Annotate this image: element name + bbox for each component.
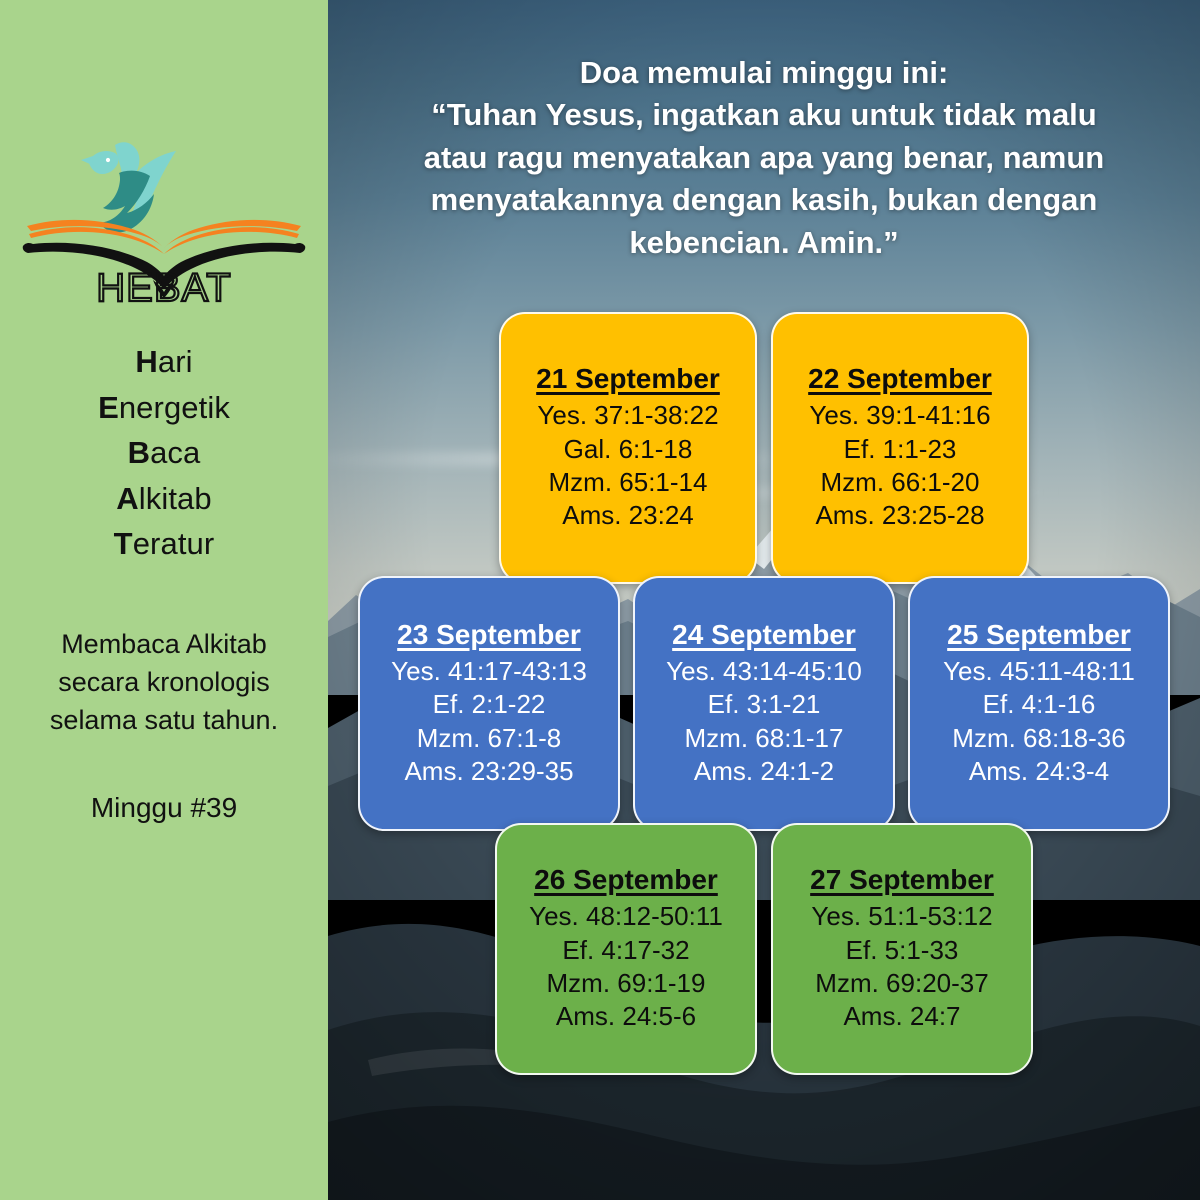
acronym-line-teratur: Teratur <box>98 521 230 567</box>
card-reading: Ams. 24:3-4 <box>969 755 1109 788</box>
card-reading: Ef. 2:1-22 <box>433 688 546 721</box>
main-panel: Doa memulai minggu ini: “Tuhan Yesus, in… <box>328 0 1200 1200</box>
card-reading: Ef. 4:1-16 <box>983 688 1096 721</box>
card-reading: Ams. 23:24 <box>562 499 694 532</box>
acronym-line-hari: Hari <box>98 339 230 385</box>
card-reading: Mzm. 68:18-36 <box>952 722 1125 755</box>
card-date: 26 September <box>534 864 718 896</box>
acronym-cap: T <box>114 526 133 561</box>
reading-plan-grid: 21 September Yes. 37:1-38:22 Gal. 6:1-18… <box>328 312 1200 1075</box>
card-date: 25 September <box>947 619 1131 651</box>
card-reading: Ef. 5:1-33 <box>846 934 959 967</box>
acronym-line-baca: Baca <box>98 430 230 476</box>
acronym-cap: A <box>116 481 139 516</box>
card-reading: Yes. 41:17-43:13 <box>391 655 587 688</box>
card-reading: Yes. 39:1-41:16 <box>809 399 990 432</box>
reading-card[interactable]: 26 September Yes. 48:12-50:11 Ef. 4:17-3… <box>495 823 757 1075</box>
acronym-rest: lkitab <box>139 481 212 516</box>
card-reading: Ams. 24:5-6 <box>556 1000 696 1033</box>
hebat-logo: HEBAT <box>19 118 309 303</box>
card-row-top: 21 September Yes. 37:1-38:22 Gal. 6:1-18… <box>499 312 1029 584</box>
card-date: 24 September <box>672 619 856 651</box>
card-row-bottom: 26 September Yes. 48:12-50:11 Ef. 4:17-3… <box>495 823 1033 1075</box>
card-reading: Mzm. 66:1-20 <box>821 466 980 499</box>
card-date: 27 September <box>810 864 994 896</box>
card-reading: Mzm. 69:1-19 <box>547 967 706 1000</box>
reading-card[interactable]: 22 September Yes. 39:1-41:16 Ef. 1:1-23 … <box>771 312 1029 584</box>
acronym-cap: H <box>135 344 158 379</box>
acronym-cap: B <box>128 435 151 470</box>
card-reading: Ef. 1:1-23 <box>844 433 957 466</box>
card-reading: Mzm. 67:1-8 <box>417 722 562 755</box>
week-number: Minggu #39 <box>91 792 237 824</box>
card-reading: Mzm. 65:1-14 <box>549 466 708 499</box>
card-reading: Ams. 24:1-2 <box>694 755 834 788</box>
card-reading: Ams. 24:7 <box>843 1000 960 1033</box>
prayer-line: menyatakannya dengan kasih, bukan dengan <box>350 179 1178 221</box>
acronym-line-energetik: Energetik <box>98 385 230 431</box>
acronym-cap: E <box>98 390 119 425</box>
acronym-rest: ari <box>158 344 193 379</box>
card-reading: Gal. 6:1-18 <box>564 433 693 466</box>
acronym-block: Hari Energetik Baca Alkitab Teratur <box>98 339 230 567</box>
acronym-rest: aca <box>150 435 200 470</box>
acronym-line-alkitab: Alkitab <box>98 476 230 522</box>
card-date: 23 September <box>397 619 581 651</box>
card-reading: Ef. 3:1-21 <box>708 688 821 721</box>
acronym-rest: nergetik <box>119 390 230 425</box>
prayer-block: Doa memulai minggu ini: “Tuhan Yesus, in… <box>328 52 1200 264</box>
card-reading: Mzm. 68:1-17 <box>685 722 844 755</box>
reading-card[interactable]: 24 September Yes. 43:14-45:10 Ef. 3:1-21… <box>633 576 895 831</box>
card-reading: Yes. 48:12-50:11 <box>529 900 723 933</box>
reading-card[interactable]: 23 September Yes. 41:17-43:13 Ef. 2:1-22… <box>358 576 620 831</box>
reading-card[interactable]: 21 September Yes. 37:1-38:22 Gal. 6:1-18… <box>499 312 757 584</box>
card-reading: Yes. 45:11-48:11 <box>943 655 1135 688</box>
reading-card[interactable]: 25 September Yes. 45:11-48:11 Ef. 4:1-16… <box>908 576 1170 831</box>
tagline: Membaca Alkitab secara kronologis selama… <box>29 625 299 740</box>
reading-card[interactable]: 27 September Yes. 51:1-53:12 Ef. 5:1-33 … <box>771 823 1033 1075</box>
card-reading: Ams. 23:25-28 <box>815 499 984 532</box>
card-reading: Yes. 51:1-53:12 <box>811 900 992 933</box>
card-reading: Yes. 43:14-45:10 <box>666 655 862 688</box>
card-reading: Mzm. 69:20-37 <box>815 967 988 1000</box>
prayer-line: “Tuhan Yesus, ingatkan aku untuk tidak m… <box>350 94 1178 136</box>
card-date: 21 September <box>536 363 720 395</box>
acronym-rest: eratur <box>133 526 215 561</box>
sidebar: HEBAT Hari Energetik Baca Alkitab Teratu… <box>0 0 328 1200</box>
logo-wordmark: HEBAT <box>96 266 231 303</box>
prayer-line: atau ragu menyatakan apa yang benar, nam… <box>350 137 1178 179</box>
card-reading: Ef. 4:17-32 <box>562 934 689 967</box>
card-date: 22 September <box>808 363 992 395</box>
hebat-bird-book-logo: HEBAT <box>19 118 309 303</box>
prayer-heading: Doa memulai minggu ini: <box>350 52 1178 94</box>
card-reading: Ams. 23:29-35 <box>404 755 573 788</box>
prayer-line: kebencian. Amin.” <box>350 222 1178 264</box>
card-row-middle: 23 September Yes. 41:17-43:13 Ef. 2:1-22… <box>358 576 1170 831</box>
card-reading: Yes. 37:1-38:22 <box>537 399 718 432</box>
